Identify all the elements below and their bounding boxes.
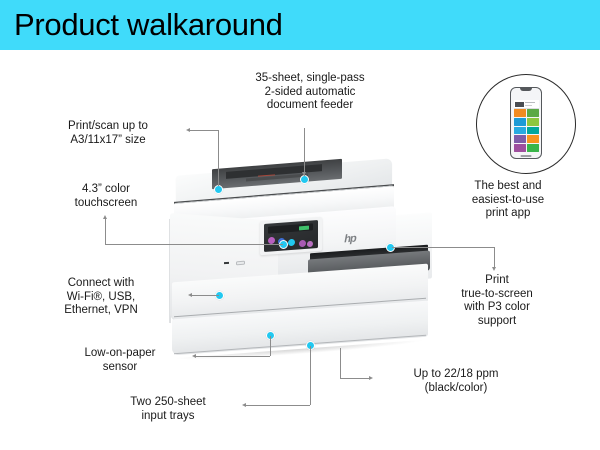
arrow-input-trays <box>242 403 246 407</box>
printer-usb-port <box>236 261 245 266</box>
header-banner: Product walkaround <box>0 0 600 50</box>
smartphone-illustration <box>510 87 542 159</box>
callout-print-speed: Up to 22/18 ppm (black/color) <box>374 368 538 395</box>
phone-app-header <box>514 100 539 109</box>
leader-lowpaper-vertical <box>270 336 271 356</box>
callout-adf: 35-sheet, single-pass 2-sided automatic … <box>222 72 398 113</box>
phone-app-tile <box>527 144 539 152</box>
leader-touch-vertical <box>105 217 106 245</box>
callout-a3-size: Print/scan up to A3/11x17” size <box>28 120 188 147</box>
phone-app-tile <box>527 118 539 126</box>
phone-status-bar <box>514 95 539 99</box>
print-app-circle <box>476 74 576 174</box>
walkaround-canvas: Product walkaround hp <box>0 0 600 450</box>
callout-print-app: The best and easiest-to-use print app <box>446 180 570 221</box>
arrow-p3-color <box>492 267 496 271</box>
leader-lowpaper-horizontal <box>196 356 270 357</box>
arrow-touchscreen <box>103 215 107 219</box>
page-title: Product walkaround <box>14 5 283 45</box>
leader-adf-vertical <box>304 128 305 176</box>
leader-p3-vertical <box>494 247 495 269</box>
phone-app-tile <box>514 127 526 135</box>
phone-app-header-line-1 <box>525 102 535 103</box>
phone-app-tile <box>527 109 539 117</box>
phone-app-tile <box>514 135 526 143</box>
arrow-low-on-paper <box>192 354 196 358</box>
phone-app-tile <box>514 118 526 126</box>
phone-app-tile-grid <box>514 109 539 152</box>
callout-low-on-paper: Low-on-paper sensor <box>52 347 188 374</box>
leader-trays-vertical <box>310 346 311 405</box>
leader-speed-horizontal <box>340 378 370 379</box>
leader-touch-horizontal <box>105 244 283 245</box>
leader-connectivity <box>192 295 219 296</box>
leader-a3-vertical <box>218 130 219 186</box>
leader-speed-vertical <box>340 348 341 378</box>
callout-touchscreen: 4.3” color touchscreen <box>24 183 188 210</box>
leader-p3-horizontal <box>392 247 494 248</box>
phone-app-tile <box>527 127 539 135</box>
printer-paper-sensor-mark <box>224 262 229 264</box>
phone-app-header-line-2 <box>525 105 532 106</box>
phone-app-tile <box>527 135 539 143</box>
leader-a3-horizontal <box>190 130 218 131</box>
printer-touchscreen-status-ok <box>299 226 309 231</box>
hotspot-a3-size[interactable] <box>214 185 223 194</box>
callout-p3-color: Print true-to-screen with P3 color suppo… <box>432 274 562 328</box>
arrow-print-speed <box>369 376 373 380</box>
hotspot-adf[interactable] <box>300 175 309 184</box>
hp-logo-text: hp <box>340 228 360 249</box>
arrow-connectivity <box>188 293 192 297</box>
callout-input-trays: Two 250-sheet input trays <box>96 396 240 423</box>
phone-app-tile <box>514 144 526 152</box>
hp-logo-icon: hp <box>340 228 360 249</box>
leader-trays-horizontal <box>246 405 310 406</box>
phone-home-indicator <box>521 155 532 156</box>
callout-connectivity: Connect with Wi-Fi®, USB, Ethernet, VPN <box>14 277 188 318</box>
phone-app-logo-icon <box>515 102 524 107</box>
phone-app-tile <box>514 109 526 117</box>
phone-notch <box>520 88 532 91</box>
arrow-adf <box>302 172 306 176</box>
